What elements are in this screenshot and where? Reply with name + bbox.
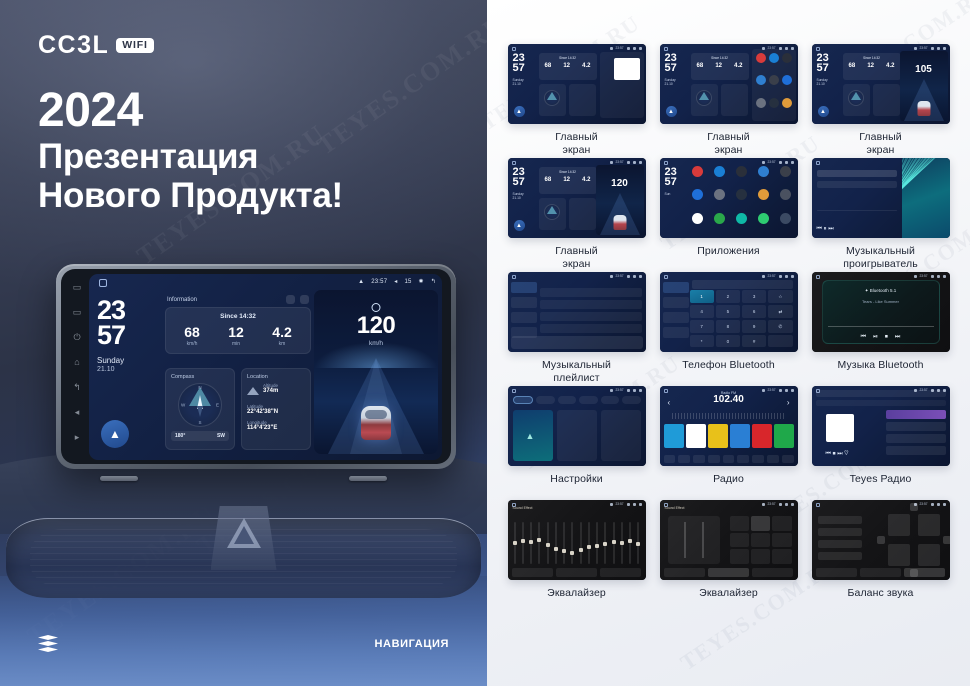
information-header: Information <box>165 294 311 307</box>
eq-sliders[interactable] <box>668 516 720 564</box>
compass-widget <box>539 84 566 116</box>
home-icon[interactable] <box>664 47 668 51</box>
trip-since: Since 14:32 <box>170 313 306 320</box>
compass-label-w: W <box>181 403 185 408</box>
phone-tabs[interactable] <box>663 282 689 342</box>
app-icon[interactable] <box>780 166 791 177</box>
app-icon[interactable] <box>714 166 725 177</box>
wifi-icon: ▲ <box>526 431 535 441</box>
screenshot-bluetooth-music[interactable]: 23:57✦ Bluetooth 5.1Tears - Like Summer⏮… <box>812 272 950 352</box>
compass-label-s: S <box>198 420 201 425</box>
back-arrow-icon[interactable]: ↰ <box>72 382 83 393</box>
gallery-tile[interactable]: 23:572357Sunday21.10▲Since 14:3268124.2Г… <box>657 44 800 158</box>
app-icon[interactable] <box>692 213 703 224</box>
information-widget: Information Since 14:32 68 km/h <box>165 294 311 360</box>
car-icon <box>361 406 391 440</box>
mic-icon[interactable]: ▭ <box>72 282 83 293</box>
status-bar: 23:57 <box>914 46 946 50</box>
screenshot-grid: 23:572357Sunday21.10▲Since 14:3268124.2Г… <box>487 0 970 624</box>
hazard-triangle-inner-icon <box>234 526 254 544</box>
location-widget <box>569 84 596 116</box>
home-icon[interactable] <box>816 275 820 279</box>
longitude-value: 114°4'23"E <box>247 425 305 431</box>
gallery-tile[interactable]: 23:572357SunПриложения <box>657 158 800 272</box>
app-icon[interactable] <box>758 213 769 224</box>
gear-icon[interactable]: ✸ <box>419 278 424 285</box>
app-icon[interactable] <box>714 213 725 224</box>
stat-speed: 68 km/h <box>184 325 200 347</box>
home-icon[interactable] <box>512 275 516 279</box>
app-icon[interactable] <box>692 166 703 177</box>
filter-row[interactable] <box>816 400 946 406</box>
compass-widget <box>539 198 566 230</box>
expand-icon[interactable] <box>300 295 309 304</box>
tile-label: Эквалайзер <box>699 587 758 614</box>
compass-widget: Compass N S W E 180° SW <box>165 368 235 450</box>
home-icon[interactable] <box>512 161 516 165</box>
eq-slider[interactable] <box>604 522 606 564</box>
screenshot-music-playlist[interactable]: 23:57 <box>508 272 646 352</box>
gallery-tile[interactable]: 23:572357Sunday21.10▲Since 14:3268124.2Г… <box>505 44 648 158</box>
compass-needle-south <box>197 406 203 417</box>
screenshot-music-player[interactable]: 23:57⏮ ⏸ ⏭ <box>812 158 950 238</box>
compass-widget <box>691 84 718 116</box>
app-icon[interactable] <box>758 189 769 200</box>
balance-tabs[interactable] <box>816 568 946 577</box>
eq-tabs[interactable] <box>664 568 794 577</box>
home-icon[interactable] <box>664 275 668 279</box>
balance-values <box>818 516 862 564</box>
eq-slider[interactable] <box>555 522 557 564</box>
eq-preset[interactable] <box>772 533 791 548</box>
speed-widget: 120 <box>596 165 644 235</box>
altitude-row: Altitude 374m <box>247 383 305 399</box>
compass-readout: 180° SW <box>171 431 229 441</box>
navigation-label: НАВИГАЦИЯ <box>375 638 449 650</box>
radio-toolbar[interactable] <box>664 455 794 463</box>
speed-value: 105 <box>900 64 948 75</box>
tile-label: Телефон Bluetooth <box>682 359 775 386</box>
eq-slider[interactable] <box>522 522 524 564</box>
head-unit-screen[interactable]: ▲ 23:57 ◂ 15 ✸ ↰ 23 57 Sunday 21.10 ▲ In… <box>89 274 442 460</box>
eq-slider[interactable] <box>547 522 549 564</box>
car-icon <box>917 101 930 116</box>
status-time: 23:57 <box>371 279 387 285</box>
dial-key[interactable]: 8 <box>716 320 740 333</box>
tile-label: Главныйэкран <box>555 245 598 272</box>
information-widget: Since 14:3268124.2 <box>843 53 901 80</box>
playback-controls[interactable]: ⏮ ⏹ ⏭ ♡ <box>826 451 849 458</box>
screenshot-sound-balance[interactable]: 23:57 <box>812 500 950 580</box>
speed-value: 120 <box>596 178 644 189</box>
gallery-tile[interactable]: 23:572357Sunday21.10▲Since 14:3268124.21… <box>505 158 648 272</box>
screenshot-home-screen-speed-105[interactable]: 23:572357Sunday21.10▲Since 14:3268124.21… <box>812 44 950 124</box>
app-icon[interactable] <box>736 189 747 200</box>
tile-label: Главныйэкран <box>707 131 750 158</box>
screenshot-applications[interactable]: 23:572357Sun <box>660 158 798 238</box>
information-widget: Since 14:3268124.2 <box>539 53 597 80</box>
stat-unit: km <box>272 341 291 347</box>
clock-widget: 2357Sunday21.10 <box>513 54 525 86</box>
eq-preset[interactable] <box>751 549 770 564</box>
screenshot-settings[interactable]: 23:57▲ <box>508 386 646 466</box>
eq-preset[interactable] <box>730 516 749 531</box>
headline-line-2: Нового Продукта! <box>38 176 343 215</box>
eq-slider[interactable] <box>629 522 631 564</box>
dial-key[interactable]: 5 <box>716 305 740 318</box>
dial-key[interactable]: 3 <box>742 290 766 303</box>
tile-label: Teyes Радио <box>850 473 912 500</box>
altitude-value: 374m <box>263 388 278 394</box>
eq-slider[interactable] <box>621 522 623 564</box>
gallery-tile[interactable]: 23:57Sound EffectЭквалайзер <box>657 500 800 614</box>
number-field[interactable] <box>692 280 793 289</box>
compass-heading: 180° <box>175 433 185 439</box>
app-icon[interactable] <box>758 166 769 177</box>
gallery-tile[interactable]: 23:57Музыкальныйплейлист <box>505 272 648 386</box>
slide-root: TEYES.COM.RU TEYES.COM.RU TEYES.COM.RU T… <box>0 0 970 686</box>
frequency-scale[interactable] <box>672 413 786 419</box>
clock-widget: 2357Sun <box>665 168 677 196</box>
status-bar: 23:57 <box>610 274 642 278</box>
home-icon[interactable] <box>512 389 516 393</box>
eq-slider[interactable] <box>580 522 582 564</box>
playback-controls[interactable]: ⏮ ⏸ ⏭ <box>817 226 834 233</box>
track-title: Tears - Like Summer <box>812 299 950 304</box>
balance-up-button[interactable] <box>910 503 918 511</box>
tile-label: Эквалайзер <box>547 587 606 614</box>
clock-minutes: 57 <box>97 323 159 348</box>
tile-label: Радио <box>713 473 744 500</box>
track-info: ⏮ ⏸ ⏭ <box>812 158 902 238</box>
home-icon[interactable] <box>99 279 107 287</box>
dial-key[interactable]: ✆ <box>768 320 792 333</box>
tile-label: Баланс звука <box>848 587 914 614</box>
status-bar: ▲ 23:57 ◂ 15 ✸ ↰ <box>358 278 436 285</box>
gallery-tile[interactable]: 23:572357Sunday21.10▲Since 14:3268124.21… <box>809 44 952 158</box>
station-preset[interactable] <box>664 424 684 448</box>
location-widget <box>569 198 596 230</box>
dial-key[interactable]: 9 <box>742 320 766 333</box>
station-preset[interactable] <box>686 424 706 448</box>
clock-widget: 2357Sunday21.10 <box>513 168 525 200</box>
clock-widget: 23 57 Sunday 21.10 <box>97 298 159 374</box>
location-widget <box>873 84 900 116</box>
settings-tabs[interactable] <box>513 396 641 404</box>
status-volume: 15 <box>404 279 411 285</box>
app-icon[interactable] <box>692 189 703 200</box>
trip-stats: 68 km/h 12 min 4.2 km <box>170 325 306 347</box>
compass-direction: SW <box>217 433 225 439</box>
tile-label: Приложения <box>697 245 759 272</box>
compass-widget <box>843 84 870 116</box>
app-shortcuts[interactable] <box>752 49 796 121</box>
car-icon <box>613 215 626 230</box>
information-actions[interactable] <box>286 295 309 304</box>
home-icon[interactable] <box>512 47 516 51</box>
head-unit: ▭ ▭ ⏻ ⌂ ↰ ◂ ▸ ▲ 23:57 ◂ 15 ✸ ↰ <box>56 252 464 482</box>
station-preset[interactable] <box>774 424 794 448</box>
dial-pad[interactable]: 123☆456⇄789✆*0# <box>690 290 793 347</box>
dial-key[interactable]: 4 <box>690 305 714 318</box>
power-icon[interactable]: ⏻ <box>72 332 83 343</box>
gallery-tile[interactable]: 23:57✦ Bluetooth 5.1Tears - Like Summer⏮… <box>809 272 952 386</box>
eq-preset[interactable] <box>730 533 749 548</box>
album-art <box>826 414 854 442</box>
home-icon[interactable]: ⌂ <box>72 357 83 368</box>
clock-day: Sunday <box>97 356 159 366</box>
eq-preset[interactable] <box>751 533 770 548</box>
compass-title: Compass <box>171 374 229 380</box>
app-icon[interactable] <box>736 166 747 177</box>
dial-key[interactable]: ⇄ <box>768 305 792 318</box>
volume-icon: ◂ <box>394 278 397 285</box>
volume-down-icon[interactable]: ◂ <box>72 407 83 418</box>
dial-key[interactable]: 1 <box>690 290 714 303</box>
eq-slider[interactable] <box>563 522 565 564</box>
playlist-categories[interactable] <box>511 282 537 342</box>
headline-line-1: Презентация <box>38 137 343 176</box>
app-icon[interactable] <box>780 189 791 200</box>
navigation-arrow-icon[interactable]: ▲ <box>666 106 677 117</box>
page-title: 2024 Презентация Нового Продукта! <box>38 86 343 215</box>
app-icon[interactable] <box>780 213 791 224</box>
clock-date: 21.10 <box>97 366 159 375</box>
dial-key[interactable] <box>768 335 792 347</box>
status-bar: 23:57 <box>610 46 642 50</box>
app-icon[interactable]: ▭ <box>72 307 83 318</box>
prev-station-icon[interactable]: ‹ <box>668 398 671 407</box>
stat-unit: km/h <box>184 341 200 347</box>
app-icon[interactable] <box>736 213 747 224</box>
headline-year: 2024 <box>38 86 343 137</box>
progress-bar[interactable] <box>828 326 934 327</box>
information-body: Since 14:32 68 km/h 12 min 4.2 <box>165 307 311 354</box>
top-nav[interactable] <box>816 390 946 397</box>
dial-key[interactable]: 6 <box>742 305 766 318</box>
balance-pad[interactable] <box>888 514 940 566</box>
station-preset[interactable] <box>730 424 750 448</box>
station-preset[interactable] <box>708 424 728 448</box>
speedometer-icon <box>372 303 381 312</box>
stat-distance: 4.2 km <box>272 325 291 347</box>
tile-label: Музыка Bluetooth <box>837 359 923 386</box>
gallery-tile[interactable]: 23:57⏮ ⏸ ⏭Музыкальныйпроигрыватель <box>809 158 952 272</box>
tile-label: Настройки <box>550 473 602 500</box>
gallery-tile[interactable]: 23:57▲Настройки <box>505 386 648 500</box>
back-arrow-icon[interactable]: ↰ <box>431 278 436 285</box>
eq-title: Sound Effect <box>513 506 533 510</box>
eq-preset[interactable] <box>772 549 791 564</box>
next-station-icon[interactable]: › <box>787 398 790 407</box>
navigation-arrow-icon[interactable]: ▲ <box>818 106 829 117</box>
stat-value: 12 <box>228 325 244 339</box>
station-preset[interactable] <box>752 424 772 448</box>
eq-title: Sound Effect <box>665 506 685 510</box>
location-widget <box>721 84 748 116</box>
status-bar: 23:57 <box>762 160 794 164</box>
clock-widget: 2357Sunday21.10 <box>817 54 829 86</box>
refresh-icon[interactable] <box>286 295 295 304</box>
status-bar: 23:57 <box>914 502 946 506</box>
status-bar: 23:57 <box>610 502 642 506</box>
eq-preset[interactable] <box>751 516 770 531</box>
navigation-arrow-icon[interactable]: ▲ <box>101 420 129 448</box>
home-icon[interactable] <box>816 47 820 51</box>
speed-unit: km/h <box>314 340 438 347</box>
stat-duration: 12 min <box>228 325 244 347</box>
eq-slider[interactable] <box>514 522 516 564</box>
volume-up-icon[interactable]: ▸ <box>72 432 83 443</box>
compass-label-e: E <box>216 403 219 408</box>
gallery-tile[interactable]: 23:57⏮ ⏹ ⏭ ♡Teyes Радио <box>809 386 952 500</box>
eq-slider[interactable] <box>588 522 590 564</box>
navigation-arrow-icon[interactable]: ▲ <box>514 220 525 231</box>
information-widget: Since 14:3268124.2 <box>691 53 749 80</box>
eq-bands[interactable] <box>514 518 640 564</box>
status-bar: 23:57 <box>610 160 642 164</box>
dial-key[interactable]: 2 <box>716 290 740 303</box>
station-presets[interactable] <box>664 424 794 448</box>
screenshot-home-screen-media[interactable]: 23:572357Sunday21.10▲Since 14:3268124.2 <box>508 44 646 124</box>
eq-slider[interactable] <box>530 522 532 564</box>
information-widget: Since 14:3268124.2 <box>539 167 597 194</box>
eq-tabs[interactable] <box>512 568 642 577</box>
product-logo: CC3L WIFI <box>38 33 154 58</box>
dial-key[interactable]: ☆ <box>768 290 792 303</box>
altitude-value-group: Altitude 374m <box>263 383 278 394</box>
layers-icon <box>38 635 58 653</box>
app-icon[interactable] <box>714 189 725 200</box>
dial-key[interactable]: 7 <box>690 320 714 333</box>
album-art <box>614 58 640 80</box>
eq-preset[interactable] <box>730 549 749 564</box>
eq-preset[interactable] <box>772 516 791 531</box>
tile-label: Музыкальныйплейлист <box>542 359 611 386</box>
home-icon[interactable] <box>816 503 820 507</box>
bt-version: ✦ Bluetooth 5.1 <box>812 288 950 294</box>
screenshot-equalizer-presets[interactable]: 23:57Sound Effect <box>660 500 798 580</box>
screenshot-gallery-panel: TEYES.COM.RU TEYES.COM.RU TEYES.COM.RU T… <box>487 0 970 686</box>
balance-left-button[interactable] <box>877 536 885 544</box>
screenshot-teyes-radio[interactable]: 23:57⏮ ⏹ ⏭ ♡ <box>812 386 950 466</box>
tile-label: Главныйэкран <box>555 131 598 158</box>
clock-widget: 2357Sunday21.10 <box>665 54 677 86</box>
gallery-tile[interactable]: 23:57123☆456⇄789✆*0#Телефон Bluetooth <box>657 272 800 386</box>
latitude-row: Latitude 22°42'38"N <box>247 404 305 415</box>
mountain-icon <box>247 387 259 396</box>
radio-frequency: 102.40 <box>660 394 798 405</box>
screenshot-radio[interactable]: 23:57Radio FM102.40‹› <box>660 386 798 466</box>
location-widget: Location Altitude 374m Latitude 22°42'38… <box>241 368 311 450</box>
app-grid[interactable] <box>689 166 795 233</box>
navigation-arrow-icon[interactable]: ▲ <box>514 106 525 117</box>
stat-unit: min <box>228 341 244 347</box>
dial-key[interactable]: # <box>742 335 766 347</box>
left-footer: НАВИГАЦИЯ <box>0 632 487 656</box>
status-bar: 23:57 <box>762 502 794 506</box>
screenshot-home-screen-apps[interactable]: 23:572357Sunday21.10▲Since 14:3268124.2 <box>660 44 798 124</box>
speed-widget: 120 km/h <box>314 290 438 454</box>
status-bar: 23:57 <box>610 388 642 392</box>
eq-slider[interactable] <box>613 522 615 564</box>
station-list[interactable] <box>886 410 946 458</box>
eq-slider[interactable] <box>538 522 540 564</box>
compass-label-n: N <box>198 385 201 390</box>
track-list[interactable] <box>540 288 642 336</box>
screenshot-home-screen-speed-120[interactable]: 23:572357Sunday21.10▲Since 14:3268124.21… <box>508 158 646 238</box>
dial-key[interactable]: 0 <box>716 335 740 347</box>
speed-widget: 105 <box>900 51 948 121</box>
balance-right-button[interactable] <box>943 536 950 544</box>
logo-model-text: CC3L <box>38 33 109 58</box>
eq-slider[interactable] <box>596 522 598 564</box>
left-hero-panel: TEYES.COM.RU TEYES.COM.RU TEYES.COM.RU T… <box>0 0 487 686</box>
stat-value: 4.2 <box>272 325 291 339</box>
compass-dial: N S W E <box>178 383 222 427</box>
logo-wifi-badge: WIFI <box>116 38 153 54</box>
head-unit-side-buttons: ▭ ▭ ⏻ ⌂ ↰ ◂ ▸ <box>66 278 88 446</box>
wifi-icon: ▲ <box>358 279 364 285</box>
visualizer <box>902 158 950 238</box>
longitude-row: Longitude 114°4'23"E <box>247 420 305 431</box>
home-icon[interactable] <box>664 161 668 165</box>
status-bar: 23:57 <box>914 274 946 278</box>
eq-slider[interactable] <box>637 522 639 564</box>
speed-value: 120 <box>314 314 438 338</box>
playback-controls[interactable]: ⏮⏯⏹⏭ <box>812 334 950 341</box>
gallery-tile[interactable]: 23:57Баланс звука <box>809 500 952 614</box>
screenshot-bluetooth-phone[interactable]: 23:57123☆456⇄789✆*0# <box>660 272 798 352</box>
latitude-value: 22°42'38"N <box>247 409 305 415</box>
screenshot-equalizer-bands[interactable]: 23:57Sound Effect <box>508 500 646 580</box>
now-playing-bar[interactable] <box>511 336 643 349</box>
eq-slider[interactable] <box>571 522 573 564</box>
gallery-tile[interactable]: 23:57Sound EffectЭквалайзер <box>505 500 648 614</box>
dial-key[interactable]: * <box>690 335 714 347</box>
eq-presets[interactable] <box>730 516 792 564</box>
information-title: Information <box>167 297 197 303</box>
location-title: Location <box>247 374 305 380</box>
gallery-tile[interactable]: 23:57Radio FM102.40‹›Радио <box>657 386 800 500</box>
stat-value: 68 <box>184 325 200 339</box>
tile-label: Музыкальныйпроигрыватель <box>843 245 918 272</box>
status-bar: 23:57 <box>762 274 794 278</box>
tile-label: Главныйэкран <box>859 131 902 158</box>
